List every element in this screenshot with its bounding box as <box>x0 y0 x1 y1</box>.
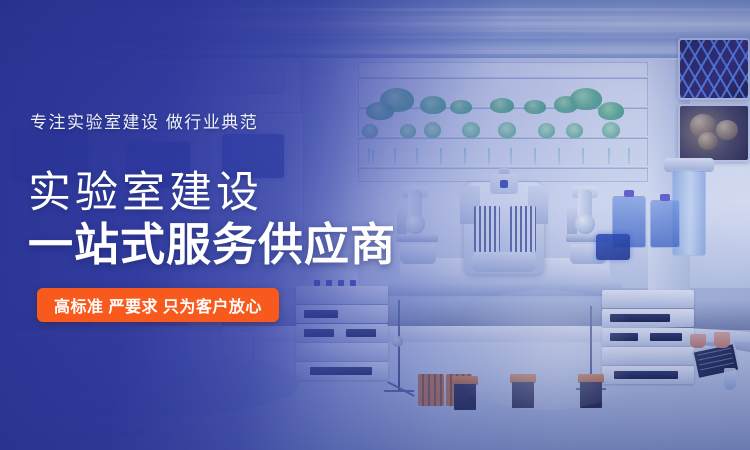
hero-banner: 专注实验室建设 做行业典范 实验室建设 一站式服务供应商 高标准 严要求 只为客… <box>0 0 750 450</box>
slogan-badge-text: 高标准 严要求 只为客户放心 <box>54 293 262 317</box>
banner-title-line-2: 一站式服务供应商 <box>28 220 396 270</box>
slogan-badge[interactable]: 高标准 严要求 只为客户放心 <box>37 288 279 322</box>
banner-title-line-1: 实验室建设 <box>28 170 263 216</box>
banner-content: 专注实验室建设 做行业典范 实验室建设 一站式服务供应商 高标准 严要求 只为客… <box>0 0 750 450</box>
banner-eyebrow-text: 专注实验室建设 做行业典范 <box>30 108 258 133</box>
